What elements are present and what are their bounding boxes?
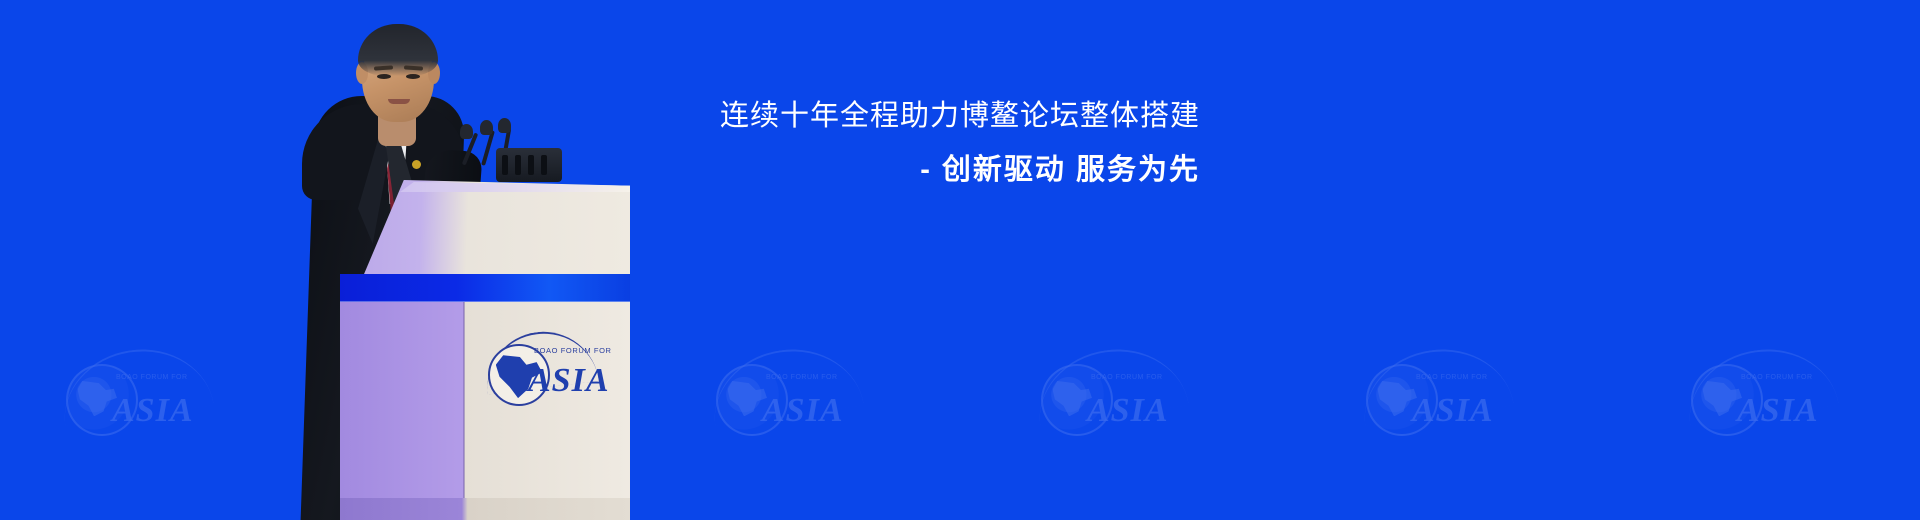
watermark-wordmark: ASIA [762, 392, 844, 430]
boao-forum-logo: BOAO FORUM FOR ASIA [486, 328, 616, 418]
eye-right [406, 74, 420, 79]
watermark-row: BOAO FORUM FOR ASIA BOAO FORUM FOR ASIA … [0, 340, 1920, 470]
headline-line-2: - 创新驱动 服务为先 [640, 147, 1200, 193]
watermark-globe-icon [1691, 364, 1763, 436]
watermark-globe-icon [1041, 364, 1113, 436]
watermark-wordmark: ASIA [1737, 392, 1819, 430]
microphone-head-icon [480, 120, 493, 135]
podium-base [340, 498, 630, 520]
watermark-subtitle: BOAO FORUM FOR [116, 374, 188, 381]
watermark-wordmark: ASIA [1087, 392, 1169, 430]
podium-panel-divider [463, 302, 465, 500]
watermark-wordmark: ASIA [112, 392, 194, 430]
lapel-pin-icon [412, 160, 421, 169]
microphone-head-icon [498, 118, 511, 133]
watermark-logo: BOAO FORUM FOR ASIA [60, 340, 235, 452]
podium-panel-left [340, 302, 464, 500]
watermark-subtitle: BOAO FORUM FOR [1091, 374, 1163, 381]
boao-forum-banner: BOAO FORUM FOR ASIA BOAO FORUM FOR ASIA … [0, 0, 1920, 520]
watermark-globe-icon [1366, 364, 1438, 436]
mouth [388, 99, 410, 104]
podium: BOAO FORUM FOR ASIA [340, 180, 630, 520]
watermark-subtitle: BOAO FORUM FOR [1741, 374, 1813, 381]
watermark-arc-icon [56, 340, 214, 426]
watermark-logo: BOAO FORUM FOR ASIA [1035, 340, 1210, 452]
microphone-base [496, 148, 562, 182]
podium-top-surface [340, 180, 630, 276]
watermark-logo: BOAO FORUM FOR ASIA [1360, 340, 1535, 452]
podium-light-strip [340, 274, 630, 304]
watermark-globe-icon [66, 364, 138, 436]
eye-left [377, 74, 391, 79]
watermark-arc-icon [1356, 340, 1514, 426]
headline-block: 连续十年全程助力博鳌论坛整体搭建 - 创新驱动 服务为先 [640, 95, 1200, 193]
watermark-subtitle: BOAO FORUM FOR [766, 374, 838, 381]
logo-wordmark: ASIA [528, 362, 610, 400]
hair [358, 24, 438, 76]
watermark-logo: BOAO FORUM FOR ASIA [710, 340, 885, 452]
microphone-stem [481, 130, 495, 166]
watermark-wordmark: ASIA [1412, 392, 1494, 430]
watermark-arc-icon [1681, 340, 1839, 426]
headline-line-1: 连续十年全程助力博鳌论坛整体搭建 [640, 95, 1200, 139]
watermark-logo: BOAO FORUM FOR ASIA [1685, 340, 1860, 452]
logo-subtitle: BOAO FORUM FOR [534, 346, 612, 355]
watermark-globe-icon [716, 364, 788, 436]
watermark-subtitle: BOAO FORUM FOR [1416, 374, 1488, 381]
watermark-arc-icon [1031, 340, 1189, 426]
microphone-head-icon [460, 124, 473, 139]
watermark-arc-icon [706, 340, 864, 426]
